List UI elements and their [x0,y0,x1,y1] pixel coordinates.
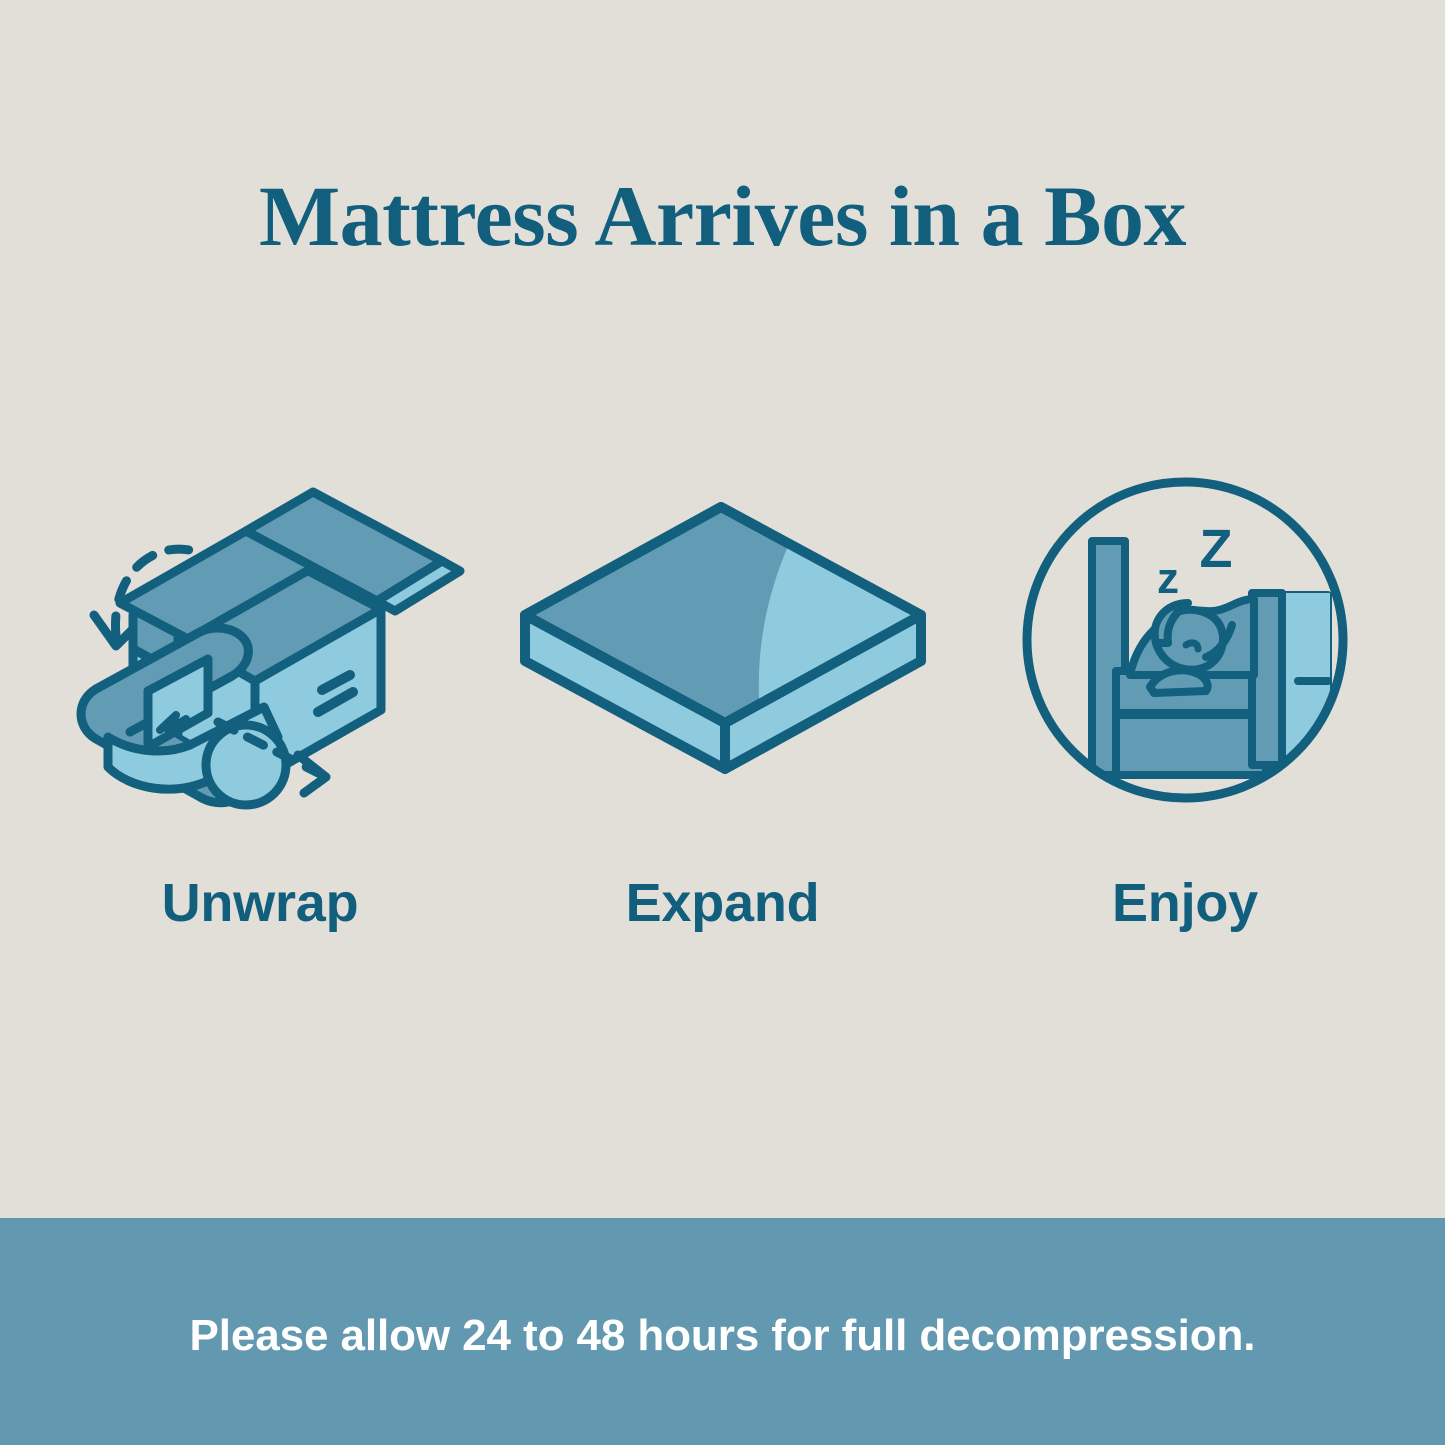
step-expand: Expand [503,470,943,934]
step-enjoy-art: z Z [965,470,1405,810]
step-enjoy: z Z Enjoy [965,470,1405,934]
poster-root: Mattress Arrives in a Box [0,0,1445,1445]
step-unwrap-art [40,470,480,810]
open-box-with-rolled-mattress-icon [50,475,470,805]
person-sleeping-in-bed-icon: z Z [1020,475,1350,805]
step-enjoy-label: Enjoy [1112,872,1258,934]
decompression-banner-text: Please allow 24 to 48 hours for full dec… [190,1311,1256,1361]
decompression-banner: Please allow 24 to 48 hours for full dec… [0,1218,1445,1445]
page-title: Mattress Arrives in a Box [0,170,1445,263]
step-expand-label: Expand [626,872,820,934]
sleep-z-small: z [1157,554,1179,603]
flat-mattress-icon [513,475,933,805]
step-unwrap-label: Unwrap [162,872,359,934]
step-unwrap: Unwrap [40,470,480,934]
steps-row: Unwrap [0,470,1445,970]
sleep-z-large: Z [1200,519,1233,579]
step-expand-art [503,470,943,810]
